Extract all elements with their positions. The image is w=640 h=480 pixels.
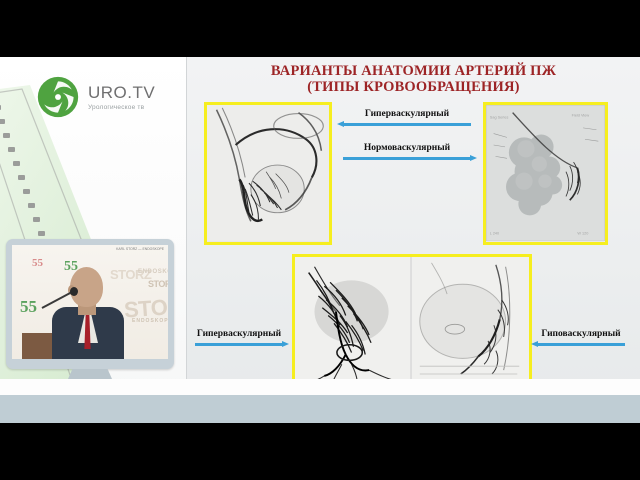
arrow-label-normovascular-top: Нормоваскулярный bbox=[364, 143, 450, 153]
slide-content: ВАРИАНТЫ АНАТОМИИ АРТЕРИЙ ПЖ (ТИПЫ КРОВО… bbox=[187, 57, 640, 395]
angiogram-image-top-right: Sag Series Field View L 240 W 120 bbox=[483, 102, 608, 245]
slide-title: ВАРИАНТЫ АНАТОМИИ АРТЕРИЙ ПЖ (ТИПЫ КРОВО… bbox=[187, 63, 640, 95]
arrow-row-hypervascular-bottom: Гиперваскулярный bbox=[189, 329, 289, 347]
uro-tv-logo: URO.TV Урологическое тв bbox=[36, 75, 155, 119]
svg-text:W 120: W 120 bbox=[577, 231, 588, 235]
angiogram-graphic bbox=[295, 257, 529, 384]
slide-title-line-1: ВАРИАНТЫ АНАТОМИИ АРТЕРИЙ ПЖ bbox=[187, 63, 640, 79]
logo-subtitle: Урологическое тв bbox=[88, 105, 155, 112]
slide-footer-white-band bbox=[0, 379, 640, 395]
angiogram-graphic bbox=[207, 105, 329, 241]
branding-panel: URO.TV Урологическое тв STORZ STORZ STOR… bbox=[0, 57, 186, 395]
svg-text:L 240: L 240 bbox=[490, 231, 499, 235]
arrow-right-icon bbox=[189, 341, 289, 347]
slide-footer-band bbox=[0, 395, 640, 423]
angiogram-image-bottom bbox=[292, 254, 532, 384]
monitor-stand bbox=[68, 369, 112, 379]
svg-text:Field View: Field View bbox=[572, 113, 590, 117]
arrow-row-hypovascular-bottom: Гиповаскулярный bbox=[531, 329, 631, 347]
backdrop-brand-sub2: ENDOSKOPE bbox=[138, 269, 168, 275]
arrow-label-hypervascular-top: Гиперваскулярный bbox=[365, 109, 449, 119]
logo-title: URO.TV bbox=[88, 84, 155, 101]
slide-stage: URO.TV Урологическое тв STORZ STORZ STOR… bbox=[0, 57, 640, 423]
backdrop-badge-1: 55 bbox=[20, 297, 37, 317]
arrow-right-icon bbox=[337, 155, 477, 161]
angiogram-graphic: Sag Series Field View L 240 W 120 bbox=[486, 105, 605, 241]
video-overlay-text: KARL STORZ — ENDOSKOPE bbox=[116, 247, 164, 252]
backdrop-badge-3: 55 bbox=[32, 257, 43, 269]
arrow-label-hypervascular-bottom: Гиперваскулярный bbox=[197, 329, 281, 339]
arrow-row-normovascular-top: Нормоваскулярный bbox=[337, 143, 477, 161]
slide-title-line-2: (ТИПЫ КРОВООБРАЩЕНИЯ) bbox=[187, 79, 640, 95]
speaker-video-frame: STORZ STORZ STORZ ENDOSKOPE ENDOSKOPE 55… bbox=[12, 245, 168, 359]
arrow-row-hypervascular-top: Гиперваскулярный bbox=[337, 109, 477, 127]
video-player-screen: URO.TV Урологическое тв STORZ STORZ STOR… bbox=[0, 0, 640, 480]
arrow-label-hypovascular-bottom: Гиповаскулярный bbox=[541, 329, 620, 339]
speaker-video-inset[interactable]: STORZ STORZ STORZ ENDOSKOPE ENDOSKOPE 55… bbox=[6, 239, 174, 369]
uro-tv-circle-logo-icon bbox=[36, 75, 80, 119]
backdrop-brand-sub: ENDOSKOPE bbox=[132, 318, 168, 324]
backdrop-brand-small: STORZ bbox=[148, 279, 168, 289]
svg-text:Sag Series: Sag Series bbox=[490, 115, 509, 119]
arrow-left-icon bbox=[531, 341, 631, 347]
angiogram-image-top-left bbox=[204, 102, 332, 245]
microphone-head-icon bbox=[70, 287, 78, 296]
arrow-left-icon bbox=[337, 121, 477, 127]
